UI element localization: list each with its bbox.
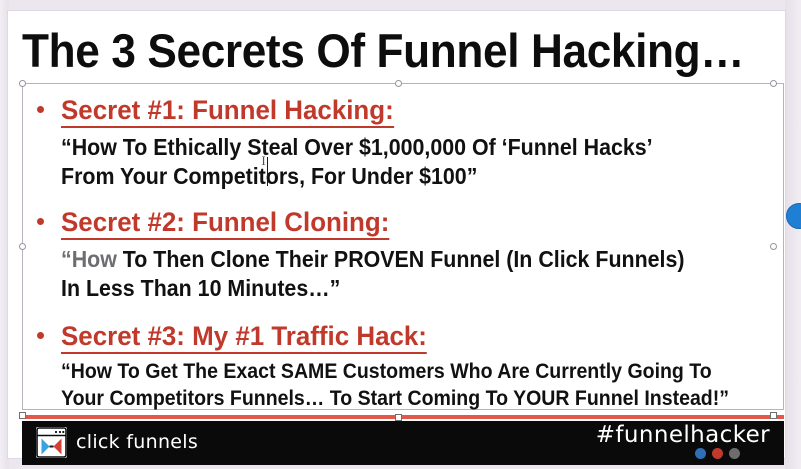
secret-2-body-line-2[interactable]: In Less Than 10 Minutes…” bbox=[61, 274, 340, 303]
slide-editor-canvas: The 3 Secrets Of Funnel Hacking… Secret … bbox=[0, 0, 801, 469]
footer-handle-top-left[interactable] bbox=[19, 412, 26, 419]
secret-1-body-line-2[interactable]: From Your Competitors, For Under $100” bbox=[61, 162, 477, 191]
clickfunnels-logo-icon bbox=[36, 427, 67, 458]
facebook-icon[interactable] bbox=[695, 448, 706, 459]
body-text-box[interactable]: Secret #1: Funnel Hacking: “How To Ethic… bbox=[22, 83, 784, 410]
bullet-icon bbox=[37, 106, 44, 113]
social-icon-row bbox=[695, 448, 740, 459]
footer-divider-rule bbox=[22, 415, 784, 419]
secret-3-body-line-2[interactable]: Your Competitors Funnels… To Start Comin… bbox=[61, 385, 729, 412]
slide-title[interactable]: The 3 Secrets Of Funnel Hacking… bbox=[22, 23, 736, 81]
selection-handle-top-right[interactable] bbox=[770, 80, 777, 87]
clickfunnels-brand-label: click funnels bbox=[76, 429, 198, 456]
text-caret bbox=[267, 157, 268, 186]
pinterest-icon[interactable] bbox=[712, 448, 723, 459]
secret-2-body-rest[interactable]: To Then Clone Their PROVEN Funnel (In Cl… bbox=[117, 246, 685, 272]
selection-handle-top-center[interactable] bbox=[395, 80, 402, 87]
canvas-right-gutter bbox=[785, 0, 801, 469]
secret-1-body-line-1[interactable]: “How To Ethically Steal Over $1,000,000 … bbox=[61, 133, 653, 162]
twitter-icon[interactable] bbox=[729, 448, 740, 459]
secret-3-heading[interactable]: Secret #3: My #1 Traffic Hack: bbox=[61, 321, 427, 354]
secret-2-heading[interactable]: Secret #2: Funnel Cloning: bbox=[61, 207, 389, 240]
secret-2-body-line-1[interactable]: “How To Then Clone Their PROVEN Funnel (… bbox=[61, 245, 685, 274]
funnelhacker-hashtag: #funnelhacker bbox=[596, 422, 770, 448]
footer-handle-top-center[interactable] bbox=[395, 414, 402, 421]
selection-handle-top-left[interactable] bbox=[19, 80, 26, 87]
presentation-slide[interactable]: The 3 Secrets Of Funnel Hacking… Secret … bbox=[8, 11, 785, 458]
bullet-icon bbox=[37, 218, 44, 225]
selection-handle-middle-right[interactable] bbox=[770, 243, 777, 250]
slide-footer-bar: click funnels #funnelhacker bbox=[22, 421, 784, 465]
selection-handle-middle-left[interactable] bbox=[19, 243, 26, 250]
secret-2-body-selected-text[interactable]: “How bbox=[61, 246, 117, 272]
secret-1-heading[interactable]: Secret #1: Funnel Hacking: bbox=[61, 95, 394, 128]
footer-handle-top-right[interactable] bbox=[770, 412, 777, 419]
ibeam-cursor-icon: I bbox=[260, 153, 267, 168]
secret-3-body-line-1[interactable]: “How To Get The Exact SAME Customers Who… bbox=[61, 358, 712, 385]
bullet-icon bbox=[37, 332, 44, 339]
